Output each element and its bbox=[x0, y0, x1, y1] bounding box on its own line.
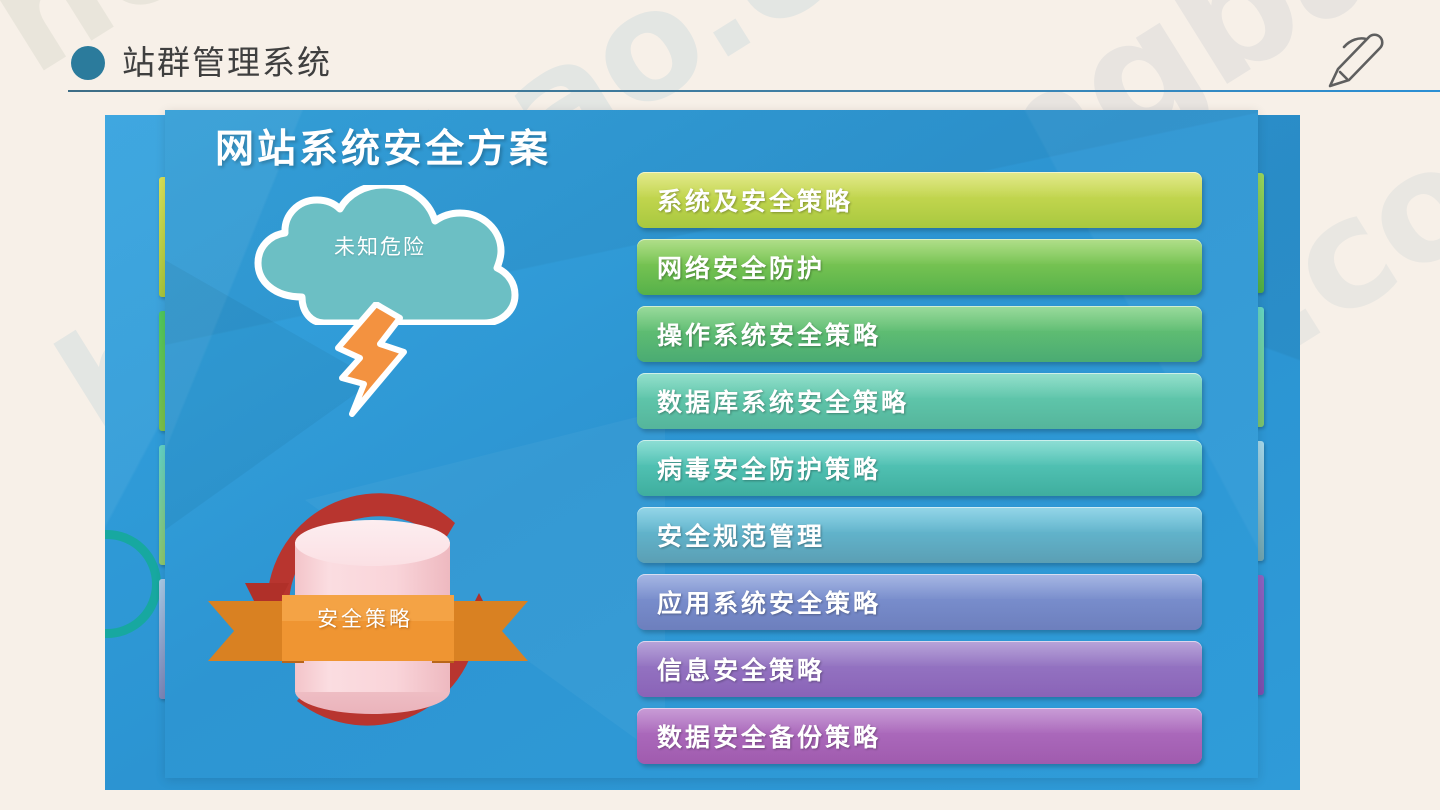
policy-bar[interactable]: 数据安全备份策略 bbox=[637, 708, 1202, 764]
policy-bar[interactable]: 网络安全防护 bbox=[637, 239, 1202, 295]
policy-bar[interactable]: 病毒安全防护策略 bbox=[637, 440, 1202, 496]
policy-bar-list: 系统及安全策略网络安全防护操作系统安全策略数据库系统安全策略病毒安全防护策略安全… bbox=[637, 172, 1202, 775]
policy-bar[interactable]: 操作系统安全策略 bbox=[637, 306, 1202, 362]
policy-bar-label: 数据库系统安全策略 bbox=[637, 383, 909, 419]
cloud-label: 未知危险 bbox=[240, 231, 520, 261]
policy-bar-label: 应用系统安全策略 bbox=[637, 584, 881, 620]
pen-icon[interactable] bbox=[1322, 30, 1392, 92]
policy-bar[interactable]: 系统及安全策略 bbox=[637, 172, 1202, 228]
policy-bar[interactable]: 应用系统安全策略 bbox=[637, 574, 1202, 630]
policy-bar-label: 数据安全备份策略 bbox=[637, 718, 881, 754]
policy-bar[interactable]: 数据库系统安全策略 bbox=[637, 373, 1202, 429]
header-divider bbox=[68, 90, 1440, 92]
policy-bar-label: 信息安全策略 bbox=[637, 651, 825, 687]
bullet-dot-icon bbox=[71, 46, 105, 80]
policy-bar-label: 安全规范管理 bbox=[637, 517, 825, 553]
security-policy-graphic: 安全策略 bbox=[205, 465, 565, 765]
page-header: 站群管理系统 bbox=[0, 0, 1440, 100]
slide-title: 网站系统安全方案 bbox=[215, 118, 551, 174]
ribbon-label: 安全策略 bbox=[205, 603, 525, 633]
policy-bar[interactable]: 安全规范管理 bbox=[637, 507, 1202, 563]
foreground-slide: 网站系统安全方案 未知危险 bbox=[165, 110, 1258, 778]
policy-bar-label: 操作系统安全策略 bbox=[637, 316, 881, 352]
policy-bar-label: 系统及安全策略 bbox=[637, 182, 853, 218]
page-title: 站群管理系统 bbox=[122, 36, 332, 84]
policy-bar-label: 网络安全防护 bbox=[637, 249, 825, 285]
slide-stack: 网站系统安全方案 未知危险 bbox=[0, 0, 1440, 810]
lightning-bolt-icon bbox=[330, 302, 420, 417]
cylinder-top bbox=[295, 520, 450, 566]
policy-bar-label: 病毒安全防护策略 bbox=[637, 450, 881, 486]
policy-bar[interactable]: 信息安全策略 bbox=[637, 641, 1202, 697]
